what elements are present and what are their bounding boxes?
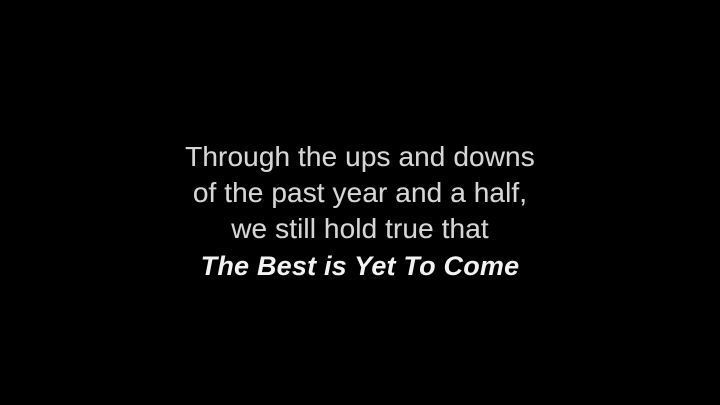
caption-line-3: we still hold true that	[0, 211, 720, 247]
caption-line-4-emphasis: The Best is Yet To Come	[0, 247, 720, 285]
caption-line-2: of the past year and a half,	[0, 175, 720, 211]
caption-block: Through the ups and downs of the past ye…	[0, 139, 720, 285]
caption-line-1: Through the ups and downs	[0, 139, 720, 175]
video-frame: Through the ups and downs of the past ye…	[0, 0, 720, 405]
